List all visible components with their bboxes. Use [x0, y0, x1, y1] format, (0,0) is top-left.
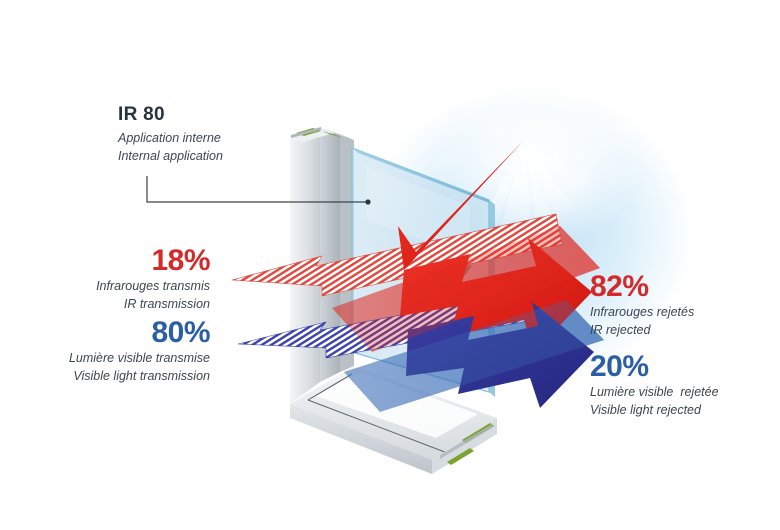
stat-caption-fr: Lumière visible rejetée [590, 384, 770, 402]
stat-caption-fr: Infrarouges transmis [40, 278, 210, 296]
product-application-en: Internal application [118, 148, 348, 166]
beam-ir-incident [332, 226, 600, 352]
stat-value: 20% [590, 352, 770, 382]
sill-top-surface [290, 366, 497, 460]
sun-rays [478, 140, 594, 252]
glazing-unit [352, 148, 495, 397]
sill-end-profile [432, 418, 497, 474]
sill-groove [316, 372, 478, 438]
arrow-visible-transmitted [238, 286, 566, 358]
glass-top-edge [352, 148, 495, 205]
stat-value: 80% [40, 318, 210, 348]
infographic-canvas: IR 80 Application interne Internal appli… [0, 0, 780, 530]
stat-caption-fr: Lumière visible transmise [40, 350, 210, 368]
stat-value: 82% [590, 272, 770, 302]
stat-ir-transmission: 18% Infrarouges transmis IR transmission [40, 246, 210, 314]
frame-jamb-outer-face [290, 128, 320, 404]
product-name: IR 80 [118, 104, 348, 126]
film-peel-corner [452, 258, 472, 292]
arrow-visible-outgoing [406, 302, 594, 408]
beam-overlay [332, 226, 604, 412]
stat-ir-rejected: 82% Infrarouges rejetés IR rejected [590, 272, 770, 340]
arrow-ir-incoming-wedge [398, 140, 524, 270]
arrow-ir-rejected [398, 140, 592, 356]
stat-value: 18% [40, 246, 210, 276]
stat-visible-rejected: 20% Lumière visible rejetée Visible ligh… [590, 352, 770, 420]
frame-sill [290, 366, 497, 474]
frame-leaf [340, 134, 354, 372]
stat-caption-en: IR rejected [590, 322, 770, 340]
frame-jamb-side-face [320, 128, 340, 382]
beam-visible-incident [344, 300, 604, 412]
callout-leader [147, 176, 371, 205]
glass-right-edge [489, 200, 495, 397]
sill-front-face [290, 404, 432, 474]
arrow-ir-outgoing [400, 238, 592, 352]
stat-visible-transmission: 80% Lumière visible transmise Visible li… [40, 318, 210, 386]
stat-caption-fr: Infrarouges rejetés [590, 304, 770, 322]
product-application-fr: Application interne [118, 130, 348, 148]
stat-caption-en: Visible light rejected [590, 402, 770, 420]
glass-pane [352, 148, 489, 392]
arrow-visible-rejected [406, 302, 594, 408]
product-callout: IR 80 Application interne Internal appli… [118, 104, 348, 165]
stat-caption-en: Visible light transmission [40, 368, 210, 386]
window-frame-assembly [290, 127, 497, 474]
glass-reflection [366, 166, 470, 256]
stat-caption-en: IR transmission [40, 296, 210, 314]
arrow-ir-transmitted [232, 214, 562, 296]
